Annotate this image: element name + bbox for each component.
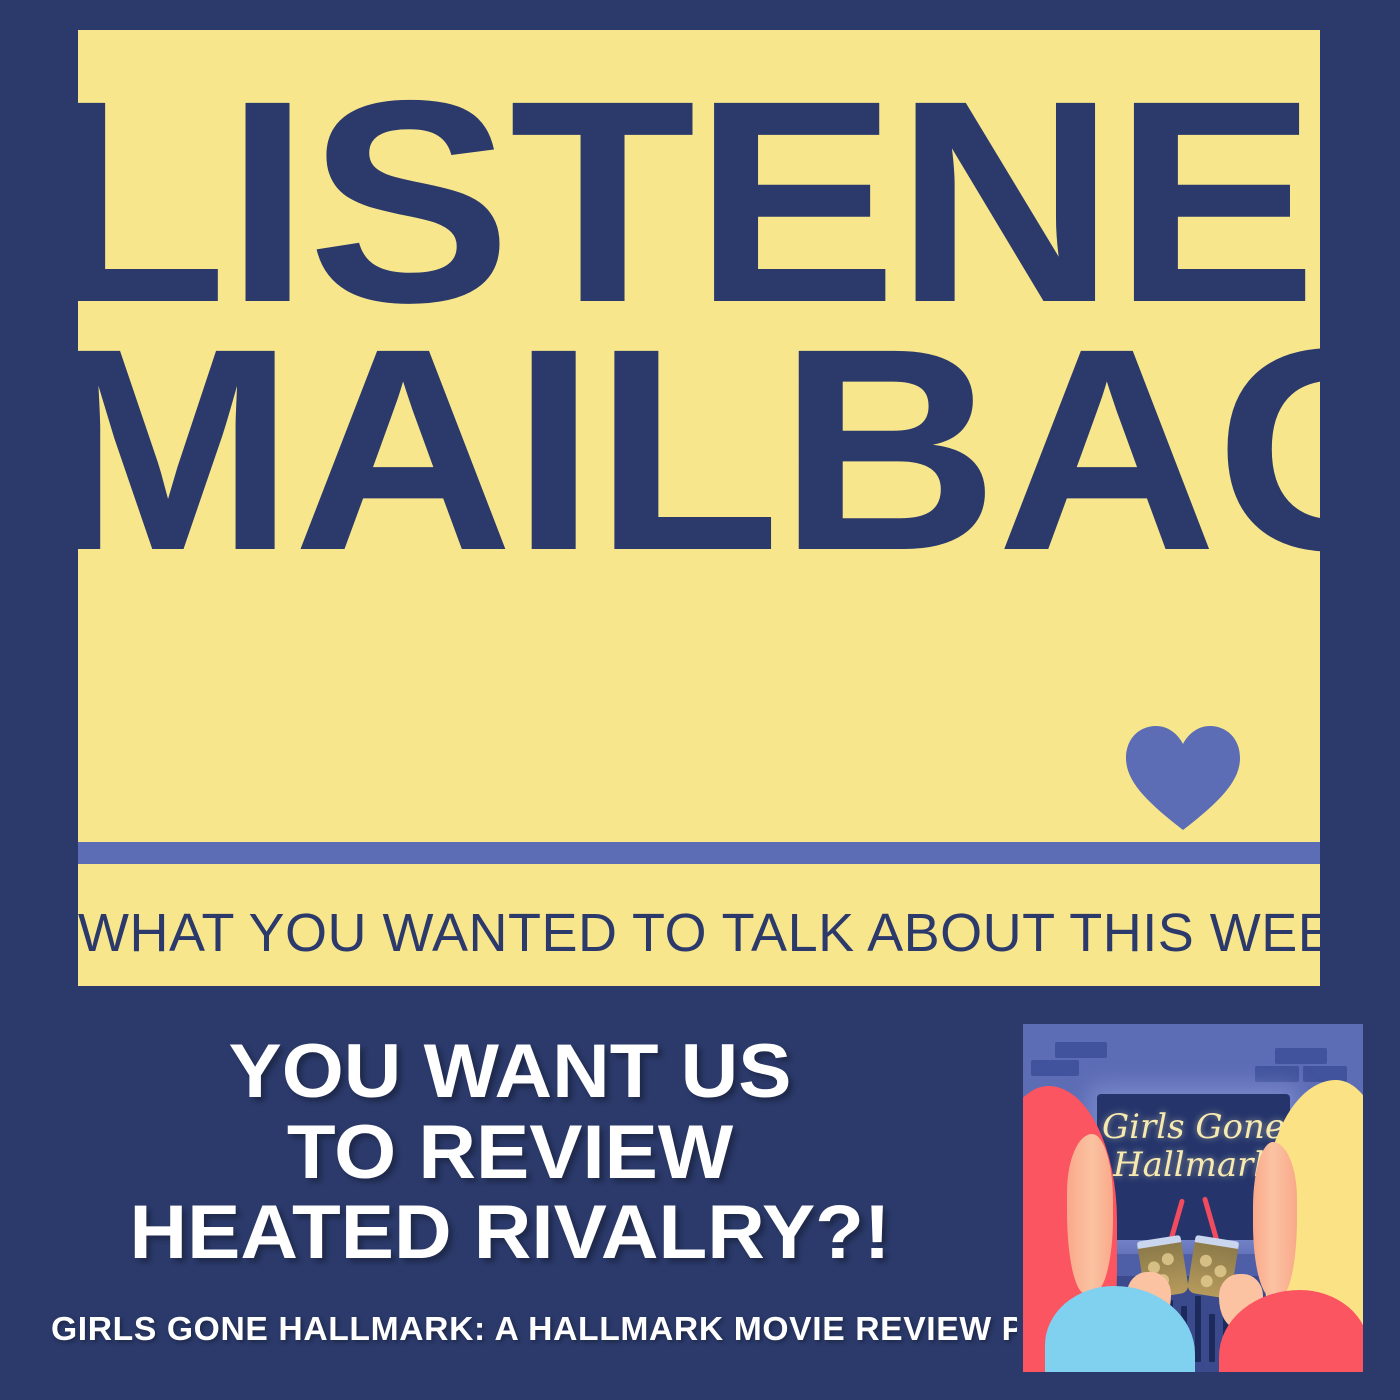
brick-shape bbox=[1275, 1048, 1327, 1064]
host-face-right bbox=[1253, 1142, 1297, 1298]
page-title-line-1: LISTENER bbox=[41, 82, 1358, 324]
page-title-line-2: MAILBAG bbox=[41, 330, 1358, 572]
hero-card: LISTENER MAILBAG WHAT YOU WANTED TO TALK… bbox=[78, 30, 1320, 986]
hero-title-block: LISTENER MAILBAG bbox=[78, 82, 1320, 572]
podcast-caption: GIRLS GONE HALLMARK: A HALLMARK MOVIE RE… bbox=[51, 1310, 969, 1348]
shelf-bar bbox=[1209, 1314, 1215, 1362]
episode-headline-line-2: TO REVIEW bbox=[38, 1113, 983, 1194]
brick-shape bbox=[1055, 1042, 1107, 1058]
podcast-logo-thumbnail: Girls Gone Hallmark bbox=[1017, 1018, 1369, 1378]
episode-headline-block: YOU WANT US TO REVIEW HEATED RIVALRY?! G… bbox=[60, 1032, 960, 1348]
shelf-bar bbox=[1195, 1296, 1201, 1362]
tv-script-line-1: Girls Gone bbox=[1097, 1108, 1290, 1146]
logo-scene: Girls Gone Hallmark bbox=[1023, 1024, 1363, 1372]
heart-icon bbox=[1124, 724, 1242, 832]
hero-subtitle: WHAT YOU WANTED TO TALK ABOUT THIS WEEK bbox=[78, 902, 1320, 964]
episode-headline-line-3: HEATED RIVALRY?! bbox=[38, 1193, 983, 1274]
episode-cover-artwork: LISTENER MAILBAG WHAT YOU WANTED TO TALK… bbox=[0, 0, 1400, 1400]
divider-band bbox=[78, 842, 1320, 864]
episode-headline-line-1: YOU WANT US bbox=[38, 1032, 983, 1113]
brick-shape bbox=[1031, 1060, 1079, 1076]
brick-shape bbox=[1255, 1066, 1299, 1082]
host-face-left bbox=[1067, 1134, 1113, 1294]
